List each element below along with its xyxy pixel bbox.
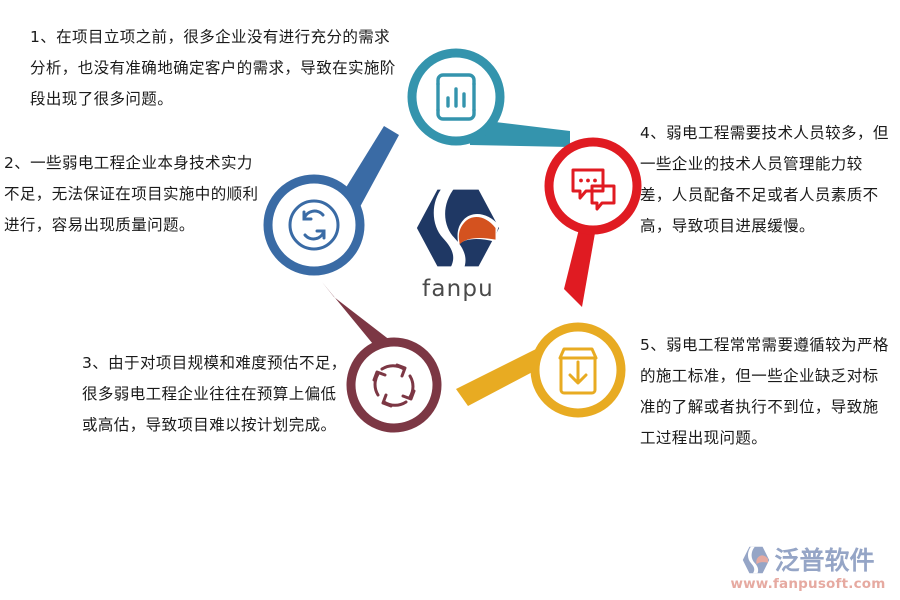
brand-logo: fanpu bbox=[406, 186, 510, 304]
watermark-url: www.fanpusoft.com bbox=[728, 576, 888, 592]
infographic-canvas: fanpu 1、在项目立项之前，很多企业没有进行充分的需求分析，也没有准确地确定… bbox=[0, 0, 900, 600]
item-text-5: 5、弱电工程常常需要遵循较为严格的施工标准，但一些企业缺乏对标准的了解或者执行不… bbox=[640, 330, 890, 454]
node-circle-2[interactable] bbox=[268, 179, 360, 271]
item-text-4: 4、弱电工程需要技术人员较多，但一些企业的技术人员管理能力较差，人员配备不足或者… bbox=[640, 118, 890, 242]
watermark-row: 泛普软件 bbox=[728, 545, 888, 575]
fanpusoft-logo-icon bbox=[741, 545, 771, 575]
item-text-1: 1、在项目立项之前，很多企业没有进行充分的需求分析，也没有准确地确定客户的需求，… bbox=[30, 22, 400, 115]
item-text-3: 3、由于对项目规模和难度预估不足，很多弱电工程企业往往在预算上偏低或高估，导致项… bbox=[82, 348, 350, 441]
node-circle-3[interactable] bbox=[351, 342, 437, 428]
watermark: 泛普软件 www.fanpusoft.com bbox=[728, 545, 888, 592]
fanpu-logo-mark bbox=[413, 186, 503, 270]
item-text-2: 2、一些弱电工程企业本身技术实力不足，无法保证在项目实施中的顺利进行，容易出现质… bbox=[4, 148, 266, 241]
brand-name: fanpu bbox=[406, 276, 510, 302]
watermark-name: 泛普软件 bbox=[774, 548, 874, 573]
